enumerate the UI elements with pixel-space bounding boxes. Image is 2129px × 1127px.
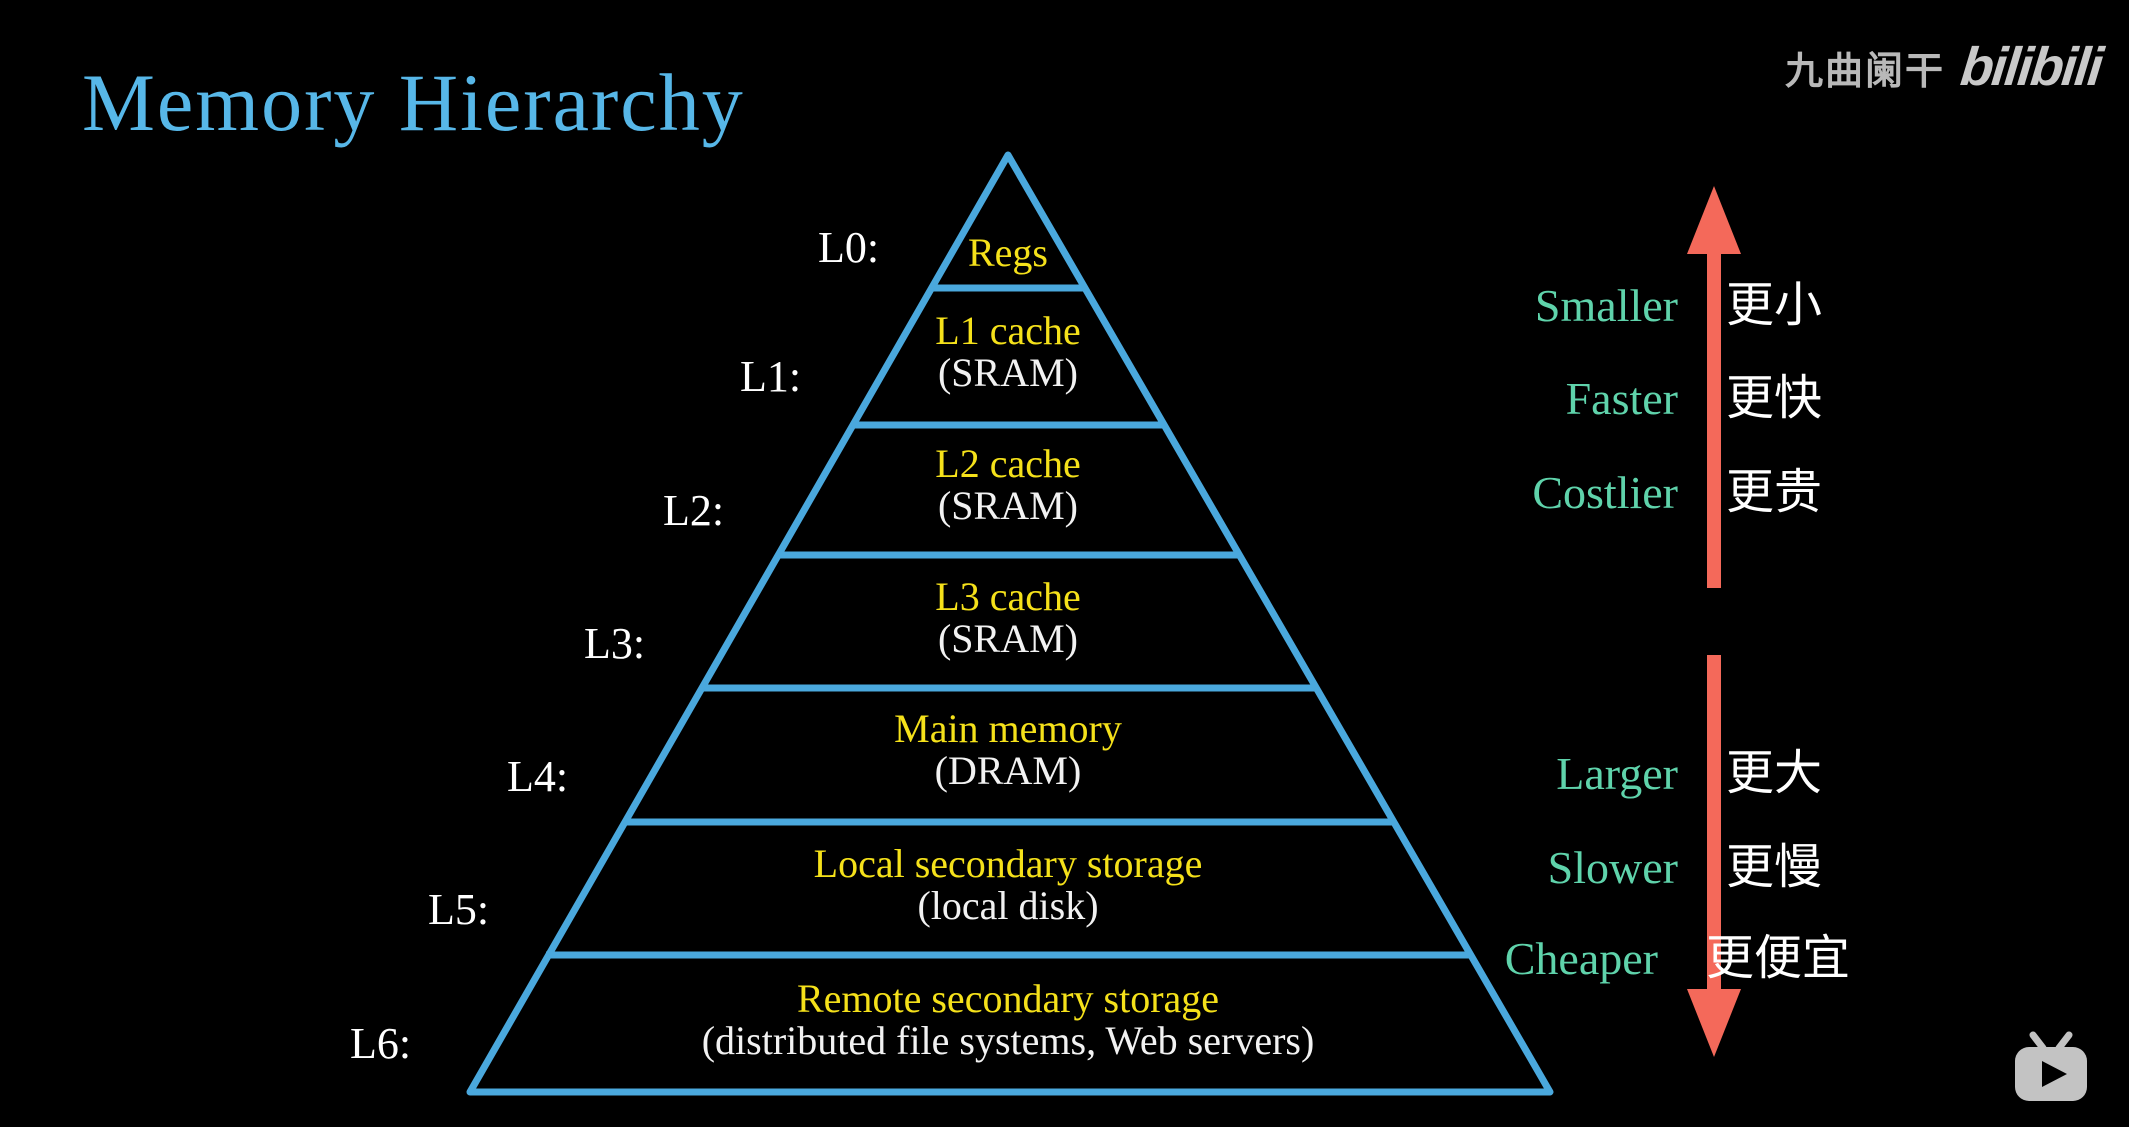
level-label-l6: L6: bbox=[350, 1022, 411, 1066]
page-title: Memory Hierarchy bbox=[82, 62, 745, 144]
level-secondary-l1: (SRAM) bbox=[628, 352, 1388, 394]
level-content-l3: L3 cache (SRAM) bbox=[628, 576, 1388, 661]
level-content-l6: Remote secondary storage (distributed fi… bbox=[628, 978, 1388, 1063]
level-content-l5: Local secondary storage (local disk) bbox=[628, 843, 1388, 928]
level-primary-l2: L2 cache bbox=[628, 443, 1388, 485]
annotation-row-slower: Slower 更慢 bbox=[1500, 827, 1822, 897]
annotation-zh-costlier: 更贵 bbox=[1726, 452, 1822, 522]
level-secondary-l6: (distributed file systems, Web servers) bbox=[628, 1020, 1388, 1062]
level-content-l0: Regs bbox=[628, 232, 1388, 274]
level-label-l5: L5: bbox=[428, 888, 489, 932]
annotation-en-costlier: Costlier bbox=[1500, 466, 1678, 519]
level-label-l4: L4: bbox=[507, 755, 568, 799]
watermark: 九曲阑干 bilibili bbox=[1785, 36, 2101, 98]
annotation-row-costlier: Costlier 更贵 bbox=[1500, 452, 1822, 522]
annotation-zh-faster: 更快 bbox=[1726, 358, 1822, 428]
level-primary-l5: Local secondary storage bbox=[628, 843, 1388, 885]
level-content-l4: Main memory (DRAM) bbox=[628, 708, 1388, 793]
annotation-en-cheaper: Cheaper bbox=[1480, 932, 1658, 985]
annotation-en-smaller: Smaller bbox=[1500, 279, 1678, 332]
level-content-l2: L2 cache (SRAM) bbox=[628, 443, 1388, 528]
annotation-zh-slower: 更慢 bbox=[1726, 827, 1822, 897]
level-primary-l0: Regs bbox=[628, 232, 1388, 274]
annotation-row-larger: Larger 更大 bbox=[1500, 733, 1822, 803]
level-primary-l4: Main memory bbox=[628, 708, 1388, 750]
annotation-zh-larger: 更大 bbox=[1726, 733, 1822, 803]
level-primary-l1: L1 cache bbox=[628, 310, 1388, 352]
annotation-en-larger: Larger bbox=[1500, 747, 1678, 800]
slide-canvas: Memory Hierarchy 九曲阑干 bilibili L0: L1: L… bbox=[0, 0, 2129, 1127]
bilibili-logo-icon: bilibili bbox=[1958, 36, 2105, 98]
level-secondary-l2: (SRAM) bbox=[628, 485, 1388, 527]
level-primary-l3: L3 cache bbox=[628, 576, 1388, 618]
level-secondary-l3: (SRAM) bbox=[628, 618, 1388, 660]
annotation-row-cheaper: Cheaper 更便宜 bbox=[1480, 918, 1850, 988]
watermark-channel-name: 九曲阑干 bbox=[1785, 40, 1945, 95]
annotation-row-smaller: Smaller 更小 bbox=[1500, 265, 1822, 335]
level-secondary-l4: (DRAM) bbox=[628, 750, 1388, 792]
annotation-zh-cheaper: 更便宜 bbox=[1706, 918, 1850, 988]
bilibili-tv-icon bbox=[2009, 1031, 2093, 1105]
annotation-row-faster: Faster 更快 bbox=[1500, 358, 1822, 428]
annotation-en-faster: Faster bbox=[1500, 372, 1678, 425]
level-secondary-l5: (local disk) bbox=[628, 885, 1388, 927]
annotation-en-slower: Slower bbox=[1500, 841, 1678, 894]
level-primary-l6: Remote secondary storage bbox=[628, 978, 1388, 1020]
annotation-zh-smaller: 更小 bbox=[1726, 265, 1822, 335]
level-content-l1: L1 cache (SRAM) bbox=[628, 310, 1388, 395]
